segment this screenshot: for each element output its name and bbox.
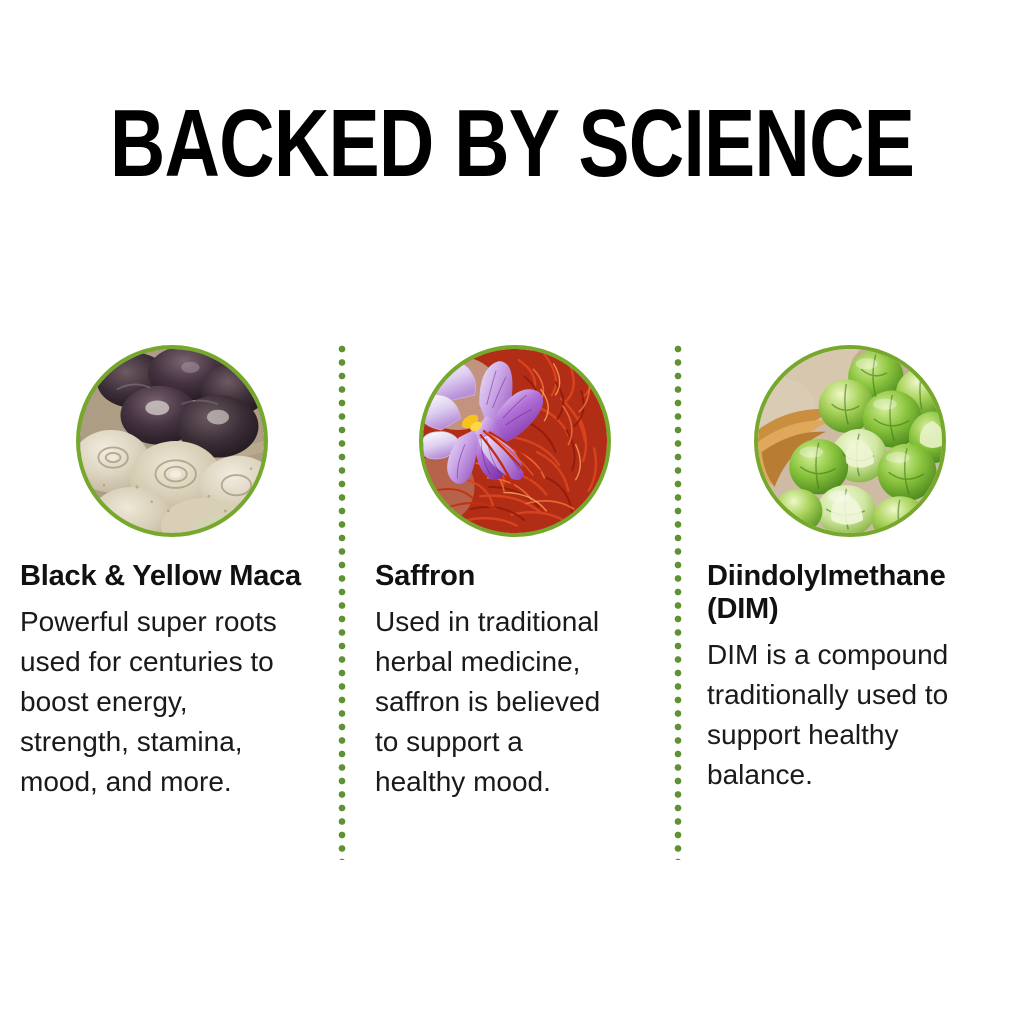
brussels-sprouts-icon — [758, 349, 942, 533]
card-title-saffron: Saffron — [375, 560, 675, 593]
body-line: DIM is a compound — [707, 635, 1007, 675]
ingredient-card-dim: Diindolylmethane (DIM) DIM is a compound… — [707, 345, 1007, 795]
card-body-maca: Powerful super roots used for centuries … — [20, 602, 320, 802]
body-line: Powerful super roots — [20, 602, 320, 642]
body-line: boost energy, — [20, 682, 320, 722]
brussels-sprouts-photo — [754, 345, 946, 537]
card-title-line1: Black & Yellow Maca — [20, 560, 301, 592]
maca-roots-photo — [76, 345, 268, 537]
body-line: mood, and more. — [20, 762, 320, 802]
body-line: herbal medicine, — [375, 642, 675, 682]
maca-roots-icon — [80, 349, 264, 533]
body-line: healthy mood. — [375, 762, 675, 802]
body-line: Used in traditional — [375, 602, 675, 642]
card-body-saffron: Used in traditional herbal medicine, saf… — [375, 602, 675, 802]
body-line: used for centuries to — [20, 642, 320, 682]
saffron-flower-icon — [423, 349, 607, 533]
body-line: strength, stamina, — [20, 722, 320, 762]
infographic-page: BACKED BY SCIENCE — [0, 0, 1024, 1024]
card-title-line1: Saffron — [375, 560, 475, 592]
card-body-dim: DIM is a compound traditionally used to … — [707, 635, 1007, 795]
card-title-line1: Diindolylmethane — [707, 560, 946, 592]
body-line: balance. — [707, 755, 1007, 795]
body-line: saffron is believed — [375, 682, 675, 722]
card-title-line2: (DIM) — [707, 593, 1007, 626]
body-line: to support a — [375, 722, 675, 762]
card-title-dim: Diindolylmethane (DIM) — [707, 560, 1007, 626]
body-line: traditionally used to — [707, 675, 1007, 715]
ingredient-card-maca: Black & Yellow Maca Powerful super roots… — [20, 345, 320, 802]
body-line: support healthy — [707, 715, 1007, 755]
card-title-maca: Black & Yellow Maca — [20, 560, 320, 593]
saffron-photo — [419, 345, 611, 537]
ingredient-card-saffron: Saffron Used in traditional herbal medic… — [375, 345, 675, 802]
page-title: BACKED BY SCIENCE — [102, 96, 921, 192]
ingredient-columns: Black & Yellow Maca Powerful super roots… — [0, 345, 1024, 865]
